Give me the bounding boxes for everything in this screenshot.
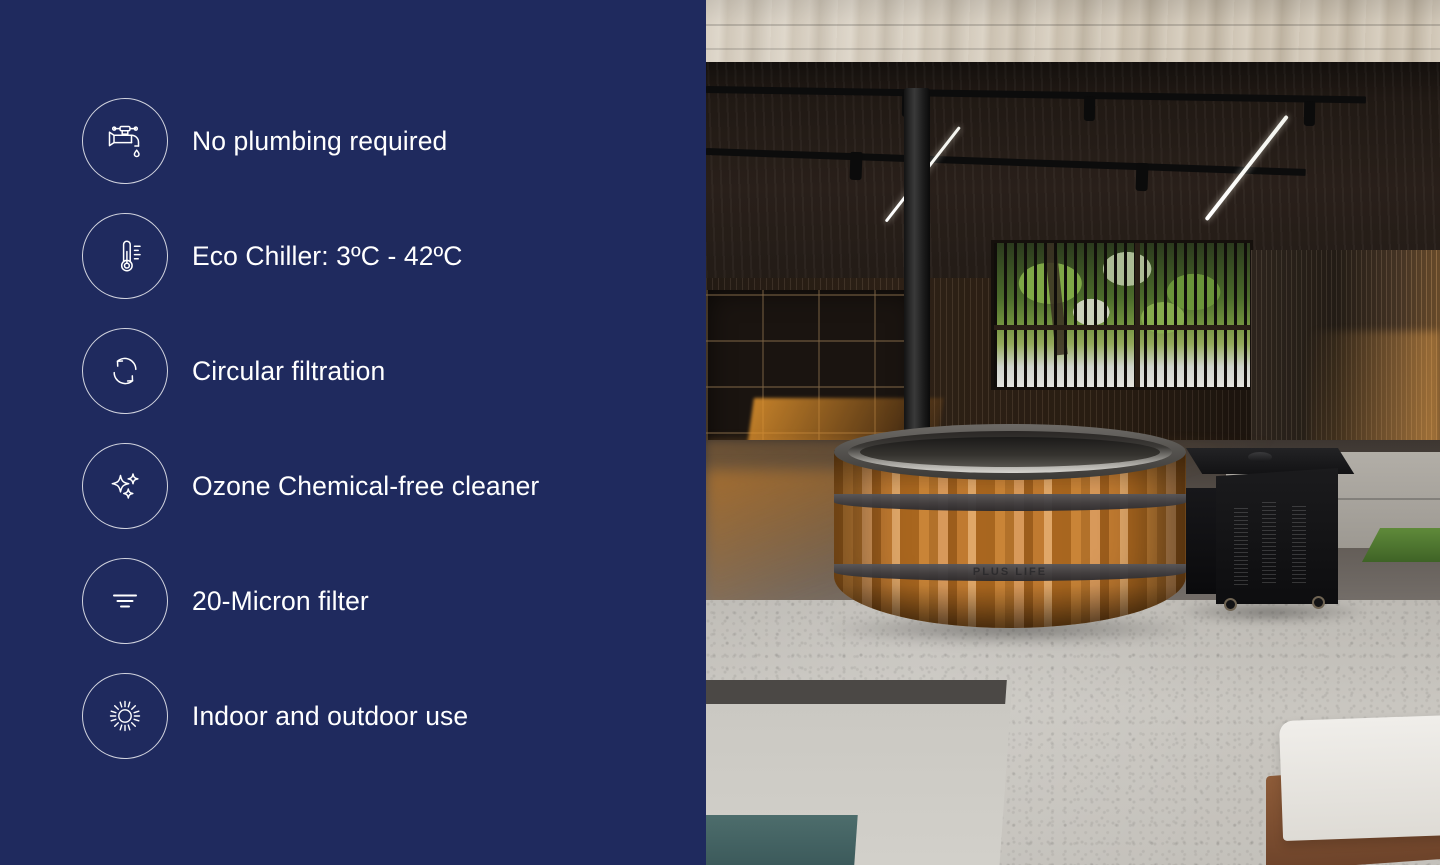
feature-item-label: Eco Chiller: 3ºC - 42ºC bbox=[192, 243, 463, 270]
feature-item-label: No plumbing required bbox=[192, 128, 447, 155]
track-spotlight-icon bbox=[1136, 163, 1149, 191]
track-spotlight-icon bbox=[850, 152, 863, 180]
feature-item-label: 20-Micron filter bbox=[192, 588, 369, 615]
feature-item-circular-filtration: Circular filtration bbox=[82, 328, 539, 414]
promo-page: No plumbing required Eco Chiller: bbox=[0, 0, 1440, 865]
pool-rim bbox=[706, 680, 1007, 704]
upper-wood-soffit bbox=[706, 0, 1440, 66]
feature-item-label: Ozone Chemical-free cleaner bbox=[192, 473, 539, 500]
chiller-vent bbox=[1292, 506, 1306, 586]
feature-item-indoor-outdoor: Indoor and outdoor use bbox=[82, 673, 539, 759]
faucet-icon bbox=[82, 98, 168, 184]
window-mullion bbox=[1135, 243, 1140, 387]
refresh-cycle-icon bbox=[82, 328, 168, 414]
plunge-tub: PLUS LIFE bbox=[834, 424, 1186, 642]
sun-icon bbox=[82, 673, 168, 759]
pool-water bbox=[706, 815, 858, 865]
tub-water bbox=[860, 437, 1160, 467]
feature-item-no-plumbing: No plumbing required bbox=[82, 98, 539, 184]
chiller-vent bbox=[1262, 502, 1276, 586]
tub-brand-label: PLUS LIFE bbox=[834, 566, 1186, 578]
thermometer-icon bbox=[82, 213, 168, 299]
feature-item-ozone-cleaner: Ozone Chemical-free cleaner bbox=[82, 443, 539, 529]
feature-item-label: Indoor and outdoor use bbox=[192, 703, 468, 730]
product-scene-photo: PLUS LIFE bbox=[706, 0, 1440, 865]
chiller-vent bbox=[1234, 508, 1248, 586]
feature-item-label: Circular filtration bbox=[192, 358, 385, 385]
daybed-mattress bbox=[1279, 715, 1440, 841]
feature-item-micron-filter: 20-Micron filter bbox=[82, 558, 539, 644]
sparkles-icon bbox=[82, 443, 168, 529]
feature-item-eco-chiller: Eco Chiller: 3ºC - 42ºC bbox=[82, 213, 539, 299]
filter-lines-icon bbox=[82, 558, 168, 644]
track-spotlight-icon bbox=[1084, 96, 1095, 121]
chiller-side-panel bbox=[1186, 488, 1218, 594]
slatted-window bbox=[991, 240, 1253, 390]
chiller-unit bbox=[1186, 448, 1346, 620]
black-structural-column bbox=[904, 88, 930, 456]
window-slats bbox=[994, 243, 1250, 387]
features-panel: No plumbing required Eco Chiller: bbox=[0, 0, 706, 865]
chiller-filler-cap bbox=[1248, 452, 1272, 462]
chiller-caster-wheel bbox=[1224, 598, 1237, 611]
track-spotlight-icon bbox=[1304, 101, 1315, 126]
feature-list: No plumbing required Eco Chiller: bbox=[82, 98, 539, 759]
window-mid-rail bbox=[994, 325, 1250, 330]
chiller-caster-wheel bbox=[1312, 596, 1325, 609]
